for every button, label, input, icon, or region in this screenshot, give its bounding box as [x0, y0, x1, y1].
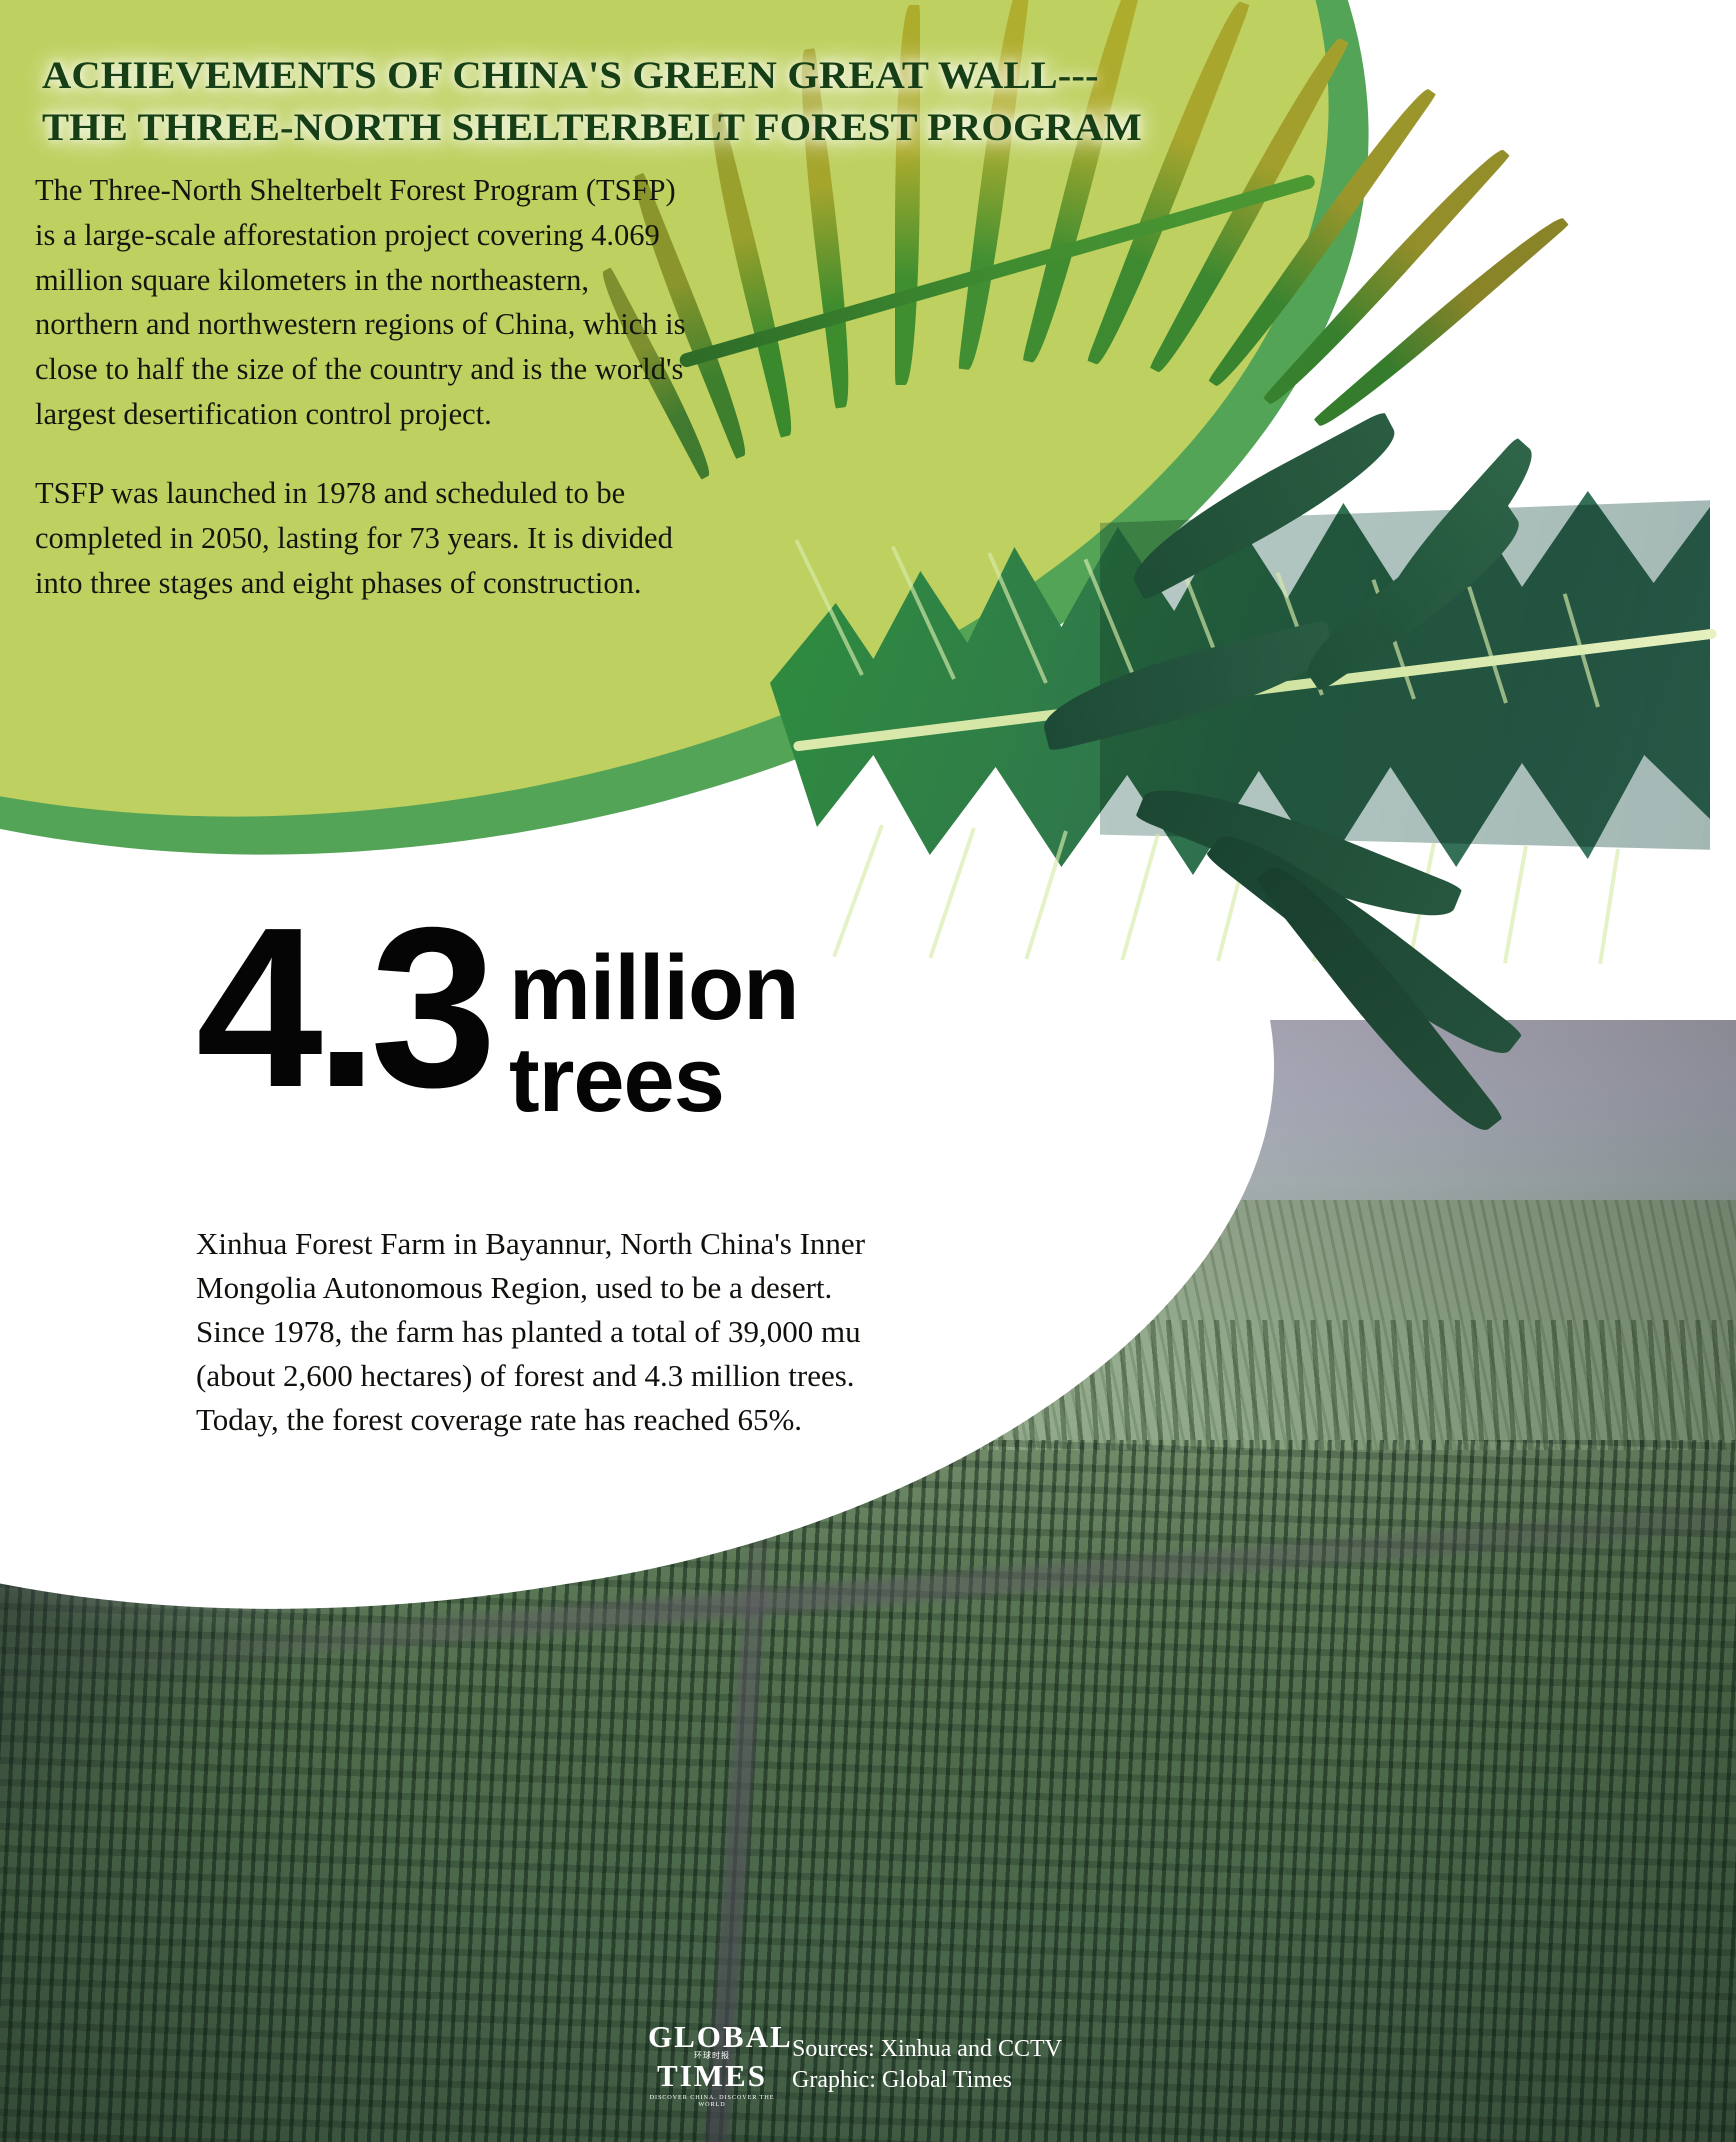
logo-times-text: TIMES: [648, 2061, 776, 2090]
page-title: ACHIEVEMENTS OF CHINA'S GREEN GREAT WALL…: [42, 50, 1144, 154]
credits-graphic: Graphic: Global Times: [792, 2065, 1062, 2096]
infographic-poster: ACHIEVEMENTS OF CHINA'S GREEN GREAT WALL…: [0, 0, 1736, 2142]
footer: GLOBAL 环球时报 TIMES DISCOVER CHINA. DISCOV…: [648, 2022, 1062, 2108]
key-statistic: 4.3 million trees: [196, 920, 798, 1126]
credits-sources: Sources: Xinhua and CCTV: [792, 2034, 1062, 2065]
page-title-line-2: THE THREE-NORTH SHELTERBELT FOREST PROGR…: [42, 102, 1144, 154]
tropical-leaf-rib: [1598, 849, 1620, 964]
story-text: Xinhua Forest Farm in Bayannur, North Ch…: [196, 1222, 896, 1442]
statistic-number: 4.3: [196, 920, 489, 1098]
statistic-unit-line-2: trees: [509, 1034, 798, 1126]
intro-paragraph-1: The Three-North Shelterbelt Forest Progr…: [35, 168, 695, 437]
page-title-line-1: ACHIEVEMENTS OF CHINA'S GREEN GREAT WALL…: [42, 50, 1144, 102]
credits: Sources: Xinhua and CCTV Graphic: Global…: [792, 2034, 1062, 2096]
logo-global-text: GLOBAL: [648, 2022, 776, 2051]
logo-tagline: DISCOVER CHINA. DISCOVER THE WORLD: [648, 2094, 776, 2108]
intro-paragraph-2: TSFP was launched in 1978 and scheduled …: [35, 471, 695, 605]
intro-text-block: The Three-North Shelterbelt Forest Progr…: [35, 168, 695, 605]
global-times-logo: GLOBAL 环球时报 TIMES DISCOVER CHINA. DISCOV…: [648, 2022, 776, 2108]
tropical-leaf-rib: [1503, 846, 1528, 964]
statistic-unit-line-1: million: [509, 942, 798, 1034]
statistic-unit: million trees: [509, 942, 798, 1126]
